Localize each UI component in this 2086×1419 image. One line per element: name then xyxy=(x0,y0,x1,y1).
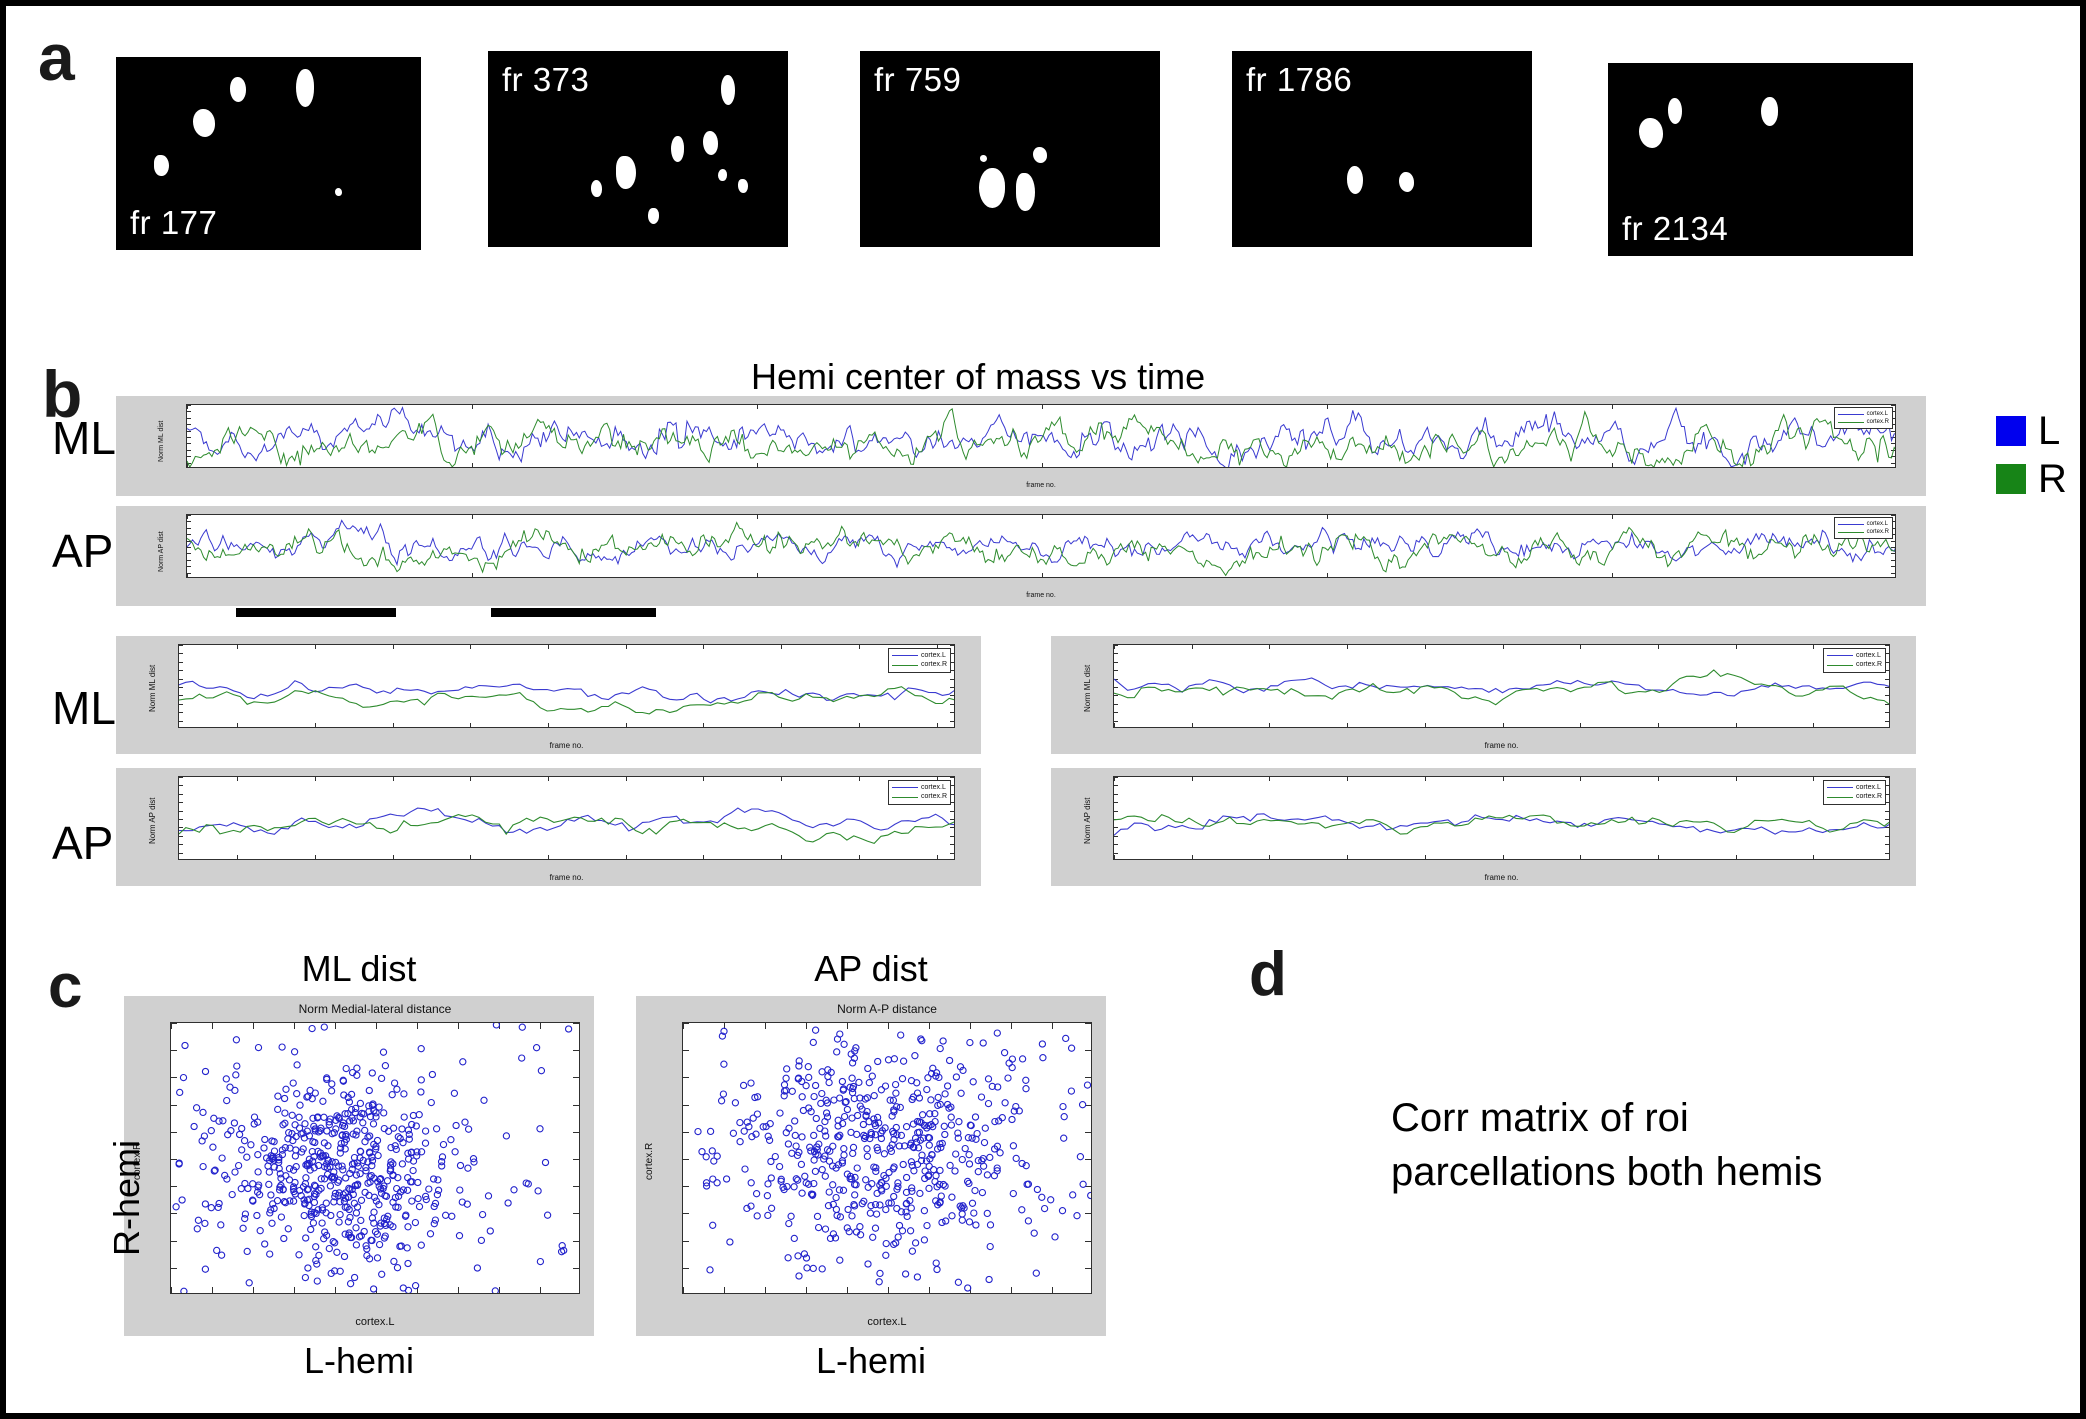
scatter-point xyxy=(699,1149,705,1155)
scatter-point xyxy=(307,1087,313,1093)
scatter-point xyxy=(839,1078,845,1084)
scatter-point xyxy=(967,1040,973,1046)
scatter-point xyxy=(369,1070,375,1076)
scatter-point xyxy=(822,1173,828,1179)
scatter-point xyxy=(239,1125,245,1131)
scatter-point xyxy=(987,1244,993,1250)
scatter-point xyxy=(946,1105,952,1111)
scatter-point xyxy=(244,1154,250,1160)
scatter-point xyxy=(865,1184,871,1190)
scatter-point xyxy=(292,1049,298,1055)
scatter-ap-dist-figure: Norm A-P distance00.10.20.30.40.50.60.70… xyxy=(636,996,1106,1336)
scatter-point xyxy=(833,1195,839,1201)
scatter-point xyxy=(293,1147,299,1153)
scatter-point xyxy=(1048,1197,1054,1203)
scatter-point xyxy=(296,1114,302,1120)
legend-line-swatch xyxy=(892,797,918,798)
scatter-point xyxy=(741,1082,747,1088)
scatter-point xyxy=(956,1119,962,1125)
scatter-point xyxy=(216,1118,222,1124)
scatter-point xyxy=(394,1265,400,1271)
scatter-point xyxy=(947,1057,953,1063)
scatter-point xyxy=(418,1077,424,1083)
scatter-point xyxy=(822,1226,828,1232)
roi-blob xyxy=(1033,147,1047,163)
scatter-point xyxy=(947,1162,953,1168)
panel-c-letter: c xyxy=(48,956,82,1018)
scatter-point xyxy=(269,1220,275,1226)
scatter-point xyxy=(969,1200,975,1206)
scatter-point xyxy=(981,1163,987,1169)
legend-entry: cortex.R xyxy=(1827,792,1882,801)
scatter-point xyxy=(333,1126,339,1132)
legend-label: cortex.L xyxy=(921,651,946,660)
scatter-point xyxy=(871,1093,877,1099)
scatter-point xyxy=(803,1083,809,1089)
scatter-point xyxy=(844,1225,850,1231)
frame-label: fr 373 xyxy=(502,61,589,99)
scatter-point xyxy=(881,1151,887,1157)
scatter-point xyxy=(834,1049,840,1055)
hemi-legend-label: R xyxy=(2038,459,2067,499)
scatter-point xyxy=(457,1162,463,1168)
scatter-point xyxy=(413,1283,419,1289)
scatter-point xyxy=(819,1091,825,1097)
scatter-point xyxy=(242,1138,248,1144)
scatter-point xyxy=(1025,1218,1031,1224)
scatter-point xyxy=(279,1044,285,1050)
scatter-point xyxy=(434,1126,440,1132)
scatter-point xyxy=(893,1090,899,1096)
scatter-point xyxy=(826,1189,832,1195)
scatter-point xyxy=(789,1150,795,1156)
plot-overview-ml-axes: 00.10.20.30.40.50.60.70.80.9102004006008… xyxy=(186,404,1896,468)
scatter-point xyxy=(908,1228,914,1234)
x-axis-label: frame no. xyxy=(186,592,1896,599)
scatter-point xyxy=(432,1217,438,1223)
scatter-point xyxy=(883,1207,889,1213)
scatter-point xyxy=(202,1068,208,1074)
scatter-point xyxy=(365,1134,371,1140)
scatter-point xyxy=(1033,1270,1039,1276)
plot-overview-ml: 00.10.20.30.40.50.60.70.80.9102004006008… xyxy=(116,396,1926,496)
scatter-point xyxy=(945,1083,951,1089)
scatter-point xyxy=(903,1271,909,1277)
scatter-point xyxy=(854,1165,860,1171)
scatter-point xyxy=(768,1175,774,1181)
scatter-point xyxy=(795,1177,801,1183)
scatter-point xyxy=(1009,1056,1015,1062)
scatter-point xyxy=(1013,1155,1019,1161)
scatter-point xyxy=(309,1026,315,1032)
scatter-point xyxy=(286,1166,292,1172)
scatter-point xyxy=(320,1098,326,1104)
scatter-ap-dist-axes-title: Norm A-P distance xyxy=(682,1002,1092,1016)
scatter-point xyxy=(275,1093,281,1099)
scatter-point xyxy=(374,1255,380,1261)
scatter-point xyxy=(841,1041,847,1047)
scatter-point xyxy=(924,1087,930,1093)
scatter-point xyxy=(798,1161,804,1167)
scatter-point xyxy=(885,1057,891,1063)
scatter-point xyxy=(208,1128,214,1134)
scatter-point xyxy=(326,1246,332,1252)
scatter-point xyxy=(380,1049,386,1055)
scatter-ml-dist-axes-title: Norm Medial-lateral distance xyxy=(170,1002,580,1016)
scatter-point xyxy=(466,1126,472,1132)
scatter-point xyxy=(908,1078,914,1084)
scatter-point xyxy=(813,1115,819,1121)
scatter-point xyxy=(1009,1065,1015,1071)
scatter-point xyxy=(1061,1135,1067,1141)
scatter-point xyxy=(538,1068,544,1074)
scatter-point xyxy=(837,1257,843,1263)
scatter-point xyxy=(542,1159,548,1165)
scatter-point xyxy=(389,1092,395,1098)
scatter-point xyxy=(865,1065,871,1071)
scatter-point xyxy=(883,1252,889,1258)
series-canvas xyxy=(179,645,955,728)
scatter-point xyxy=(784,1066,790,1072)
scatter-point xyxy=(904,1213,910,1219)
scatter-point xyxy=(415,1179,421,1185)
scatter-point xyxy=(819,1167,825,1173)
scatter-point xyxy=(984,1210,990,1216)
scatter-point xyxy=(941,1123,947,1129)
scatter-point xyxy=(218,1222,224,1228)
scatter-point xyxy=(242,1211,248,1217)
scatter-point xyxy=(262,1136,268,1142)
scatter-point xyxy=(392,1080,398,1086)
scatter-point xyxy=(849,1115,855,1121)
scatter-point xyxy=(423,1128,429,1134)
scatter-point xyxy=(814,1213,820,1219)
scatter-point xyxy=(921,1208,927,1214)
scatter-point xyxy=(849,1213,855,1219)
scatter-point xyxy=(897,1104,903,1110)
y-axis-label: Norm ML dist xyxy=(1083,665,1092,712)
legend-line-swatch xyxy=(892,665,918,666)
scatter-point xyxy=(194,1105,200,1111)
scatter-point xyxy=(865,1261,871,1267)
scatter-ap-dist-title: AP dist xyxy=(636,948,1106,990)
frame-tile-fr-2134: fr 2134 xyxy=(1608,63,1913,256)
scatter-point xyxy=(965,1285,971,1291)
scatter-point xyxy=(866,1080,872,1086)
scatter-ml-dist-figure: Norm Medial-lateral distance00.10.20.30.… xyxy=(124,996,594,1336)
scatter-point xyxy=(982,1125,988,1131)
scatter-point xyxy=(783,1075,789,1081)
scatter-point xyxy=(337,1212,343,1218)
zoom-region-marker-2 xyxy=(491,608,656,617)
scatter-point xyxy=(1023,1086,1029,1092)
scatter-point xyxy=(223,1076,229,1082)
plot-zoom-ml-right: 00.10.20.30.40.50.60.70.80.9125026027028… xyxy=(1051,636,1916,754)
roi-blob xyxy=(738,179,748,193)
scatter-point xyxy=(227,1084,233,1090)
scatter-point xyxy=(942,1091,948,1097)
row-label-ml-zoom: ML xyxy=(52,681,116,735)
scatter-point xyxy=(791,1184,797,1190)
scatter-point xyxy=(710,1222,716,1228)
scatter-point xyxy=(893,1124,899,1130)
scatter-point xyxy=(966,1161,972,1167)
scatter-point xyxy=(460,1059,466,1065)
scatter-point xyxy=(492,1288,498,1294)
scatter-point xyxy=(257,1228,263,1234)
scatter-point xyxy=(844,1106,850,1112)
scatter-point xyxy=(867,1210,873,1216)
scatter-point xyxy=(545,1212,551,1218)
scatter-point xyxy=(1068,1088,1074,1094)
scatter-point xyxy=(200,1109,206,1115)
scatter-point xyxy=(878,1087,884,1093)
scatter-point xyxy=(900,1161,906,1167)
roi-blob xyxy=(154,155,169,176)
scatter-point xyxy=(1020,1056,1026,1062)
scatter-point xyxy=(777,1164,783,1170)
scatter-point xyxy=(1006,1060,1012,1066)
scatter-point xyxy=(377,1242,383,1248)
scatter-point xyxy=(281,1235,287,1241)
scatter-point xyxy=(869,1073,875,1079)
scatter-point xyxy=(401,1091,407,1097)
scatter-point xyxy=(804,1265,810,1271)
scatter-point xyxy=(503,1133,509,1139)
scatter-point xyxy=(1074,1213,1080,1219)
plot-zoom-ml-left-axes: 00.10.20.30.40.50.60.70.80.9120304050607… xyxy=(178,644,955,728)
scatter-point xyxy=(268,1192,274,1198)
scatter-point xyxy=(451,1090,457,1096)
scatter-point xyxy=(1060,1104,1066,1110)
scatter-point xyxy=(1070,1192,1076,1198)
scatter-point xyxy=(219,1155,225,1161)
scatter-point xyxy=(353,1172,359,1178)
scatter-point xyxy=(772,1154,778,1160)
frame-label: fr 177 xyxy=(130,204,217,242)
scatter-point xyxy=(341,1253,347,1259)
scatter-point xyxy=(932,1179,938,1185)
scatter-point xyxy=(979,1190,985,1196)
plot-legend: cortex.Lcortex.R xyxy=(1834,517,1893,539)
scatter-point xyxy=(732,1100,738,1106)
scatter-point xyxy=(864,1153,870,1159)
scatter-point xyxy=(297,1102,303,1108)
legend-entry: cortex.L xyxy=(1838,520,1889,528)
scatter-point xyxy=(248,1142,254,1148)
panel-b-legend: LR xyxy=(1996,411,2067,507)
scatter-point xyxy=(242,1180,248,1186)
scatter-point xyxy=(921,1237,927,1243)
scatter-point xyxy=(481,1097,487,1103)
scatter-point xyxy=(415,1196,421,1202)
scatter-point xyxy=(826,1158,832,1164)
series-canvas xyxy=(1114,777,1890,860)
scatter-point xyxy=(330,1239,336,1245)
scatter-point xyxy=(282,1110,288,1116)
x-axis-label: frame no. xyxy=(1113,873,1890,882)
roi-blob xyxy=(648,208,659,224)
scatter-point xyxy=(940,1038,946,1044)
scatter-point xyxy=(856,1079,862,1085)
scatter-point xyxy=(394,1086,400,1092)
legend-entry: cortex.R xyxy=(1838,528,1889,536)
scatter-point xyxy=(233,1072,239,1078)
scatter-point xyxy=(375,1153,381,1159)
scatter-point xyxy=(426,1186,432,1192)
scatter-point xyxy=(319,1220,325,1226)
scatter-point xyxy=(769,1205,775,1211)
scatter-point xyxy=(796,1273,802,1279)
scatter-point xyxy=(1088,1192,1092,1198)
roi-blob xyxy=(193,109,215,137)
scatter-point xyxy=(412,1220,418,1226)
scatter-point xyxy=(845,1206,851,1212)
scatter-point xyxy=(949,1213,955,1219)
scatter-point xyxy=(973,1136,979,1142)
scatter-point xyxy=(305,1265,311,1271)
scatter-point xyxy=(478,1237,484,1243)
legend-label: cortex.R xyxy=(1856,660,1882,669)
scatter-point xyxy=(405,1260,411,1266)
scatter-point xyxy=(841,1146,847,1152)
scatter-point xyxy=(250,1181,256,1187)
scatter-ap-dist-xlabel: L-hemi xyxy=(636,1340,1106,1382)
scatter-point xyxy=(280,1122,286,1128)
scatter-point xyxy=(224,1098,230,1104)
hemi-legend-item-r: R xyxy=(1996,459,2067,499)
scatter-point xyxy=(714,1153,720,1159)
scatter-point xyxy=(877,1270,883,1276)
scatter-point xyxy=(267,1251,273,1257)
roi-blob xyxy=(1347,166,1363,194)
scatter-point xyxy=(1002,1100,1008,1106)
scatter-point xyxy=(487,1228,493,1234)
scatter-point xyxy=(535,1188,541,1194)
scatter-point xyxy=(429,1071,435,1077)
legend-line-swatch xyxy=(1838,524,1864,525)
scatter-point xyxy=(893,1240,899,1246)
scatter-point xyxy=(788,1213,794,1219)
x-axis-label: frame no. xyxy=(186,482,1896,489)
scatter-point xyxy=(985,1101,991,1107)
scatter-point xyxy=(719,1098,725,1104)
scatter-point xyxy=(353,1225,359,1231)
scatter-point xyxy=(462,1119,468,1125)
scatter-point xyxy=(812,1168,818,1174)
scatter-point xyxy=(935,1094,941,1100)
scatter-point xyxy=(875,1058,881,1064)
scatter-point xyxy=(348,1281,354,1287)
scatter-point xyxy=(302,1275,308,1281)
scatter-point xyxy=(904,1124,910,1130)
scatter-point xyxy=(255,1169,261,1175)
scatter-point xyxy=(431,1176,437,1182)
x-axis-label: frame no. xyxy=(178,741,955,750)
legend-entry: cortex.L xyxy=(1838,410,1889,418)
scatter-point xyxy=(850,1150,856,1156)
y-axis-label: Norm ML dist xyxy=(158,421,165,462)
scatter-ap-dist-axes: 00.10.20.30.40.50.60.70.80.9100.10.20.30… xyxy=(682,1022,1092,1294)
scatter-point xyxy=(1061,1114,1067,1120)
legend-line-swatch xyxy=(892,655,918,656)
scatter-point xyxy=(239,1147,245,1153)
legend-label: cortex.L xyxy=(1856,783,1881,792)
scatter-point xyxy=(1005,1075,1011,1081)
roi-blob xyxy=(591,180,602,197)
scatter-point xyxy=(399,1161,405,1167)
scatter-point xyxy=(926,1185,932,1191)
scatter-point xyxy=(924,1223,930,1229)
scatter-point xyxy=(891,1056,897,1062)
scatter-point xyxy=(294,1091,300,1097)
scatter-point xyxy=(410,1112,416,1118)
scatter-point xyxy=(474,1265,480,1271)
plot-zoom-ap-right: 00.10.20.30.40.50.60.70.80.9125026027028… xyxy=(1051,768,1916,886)
scatter-point xyxy=(314,1278,320,1284)
legend-label: cortex.L xyxy=(1867,520,1888,528)
roi-blob xyxy=(616,156,636,189)
scatter-point xyxy=(453,1122,459,1128)
scatter-point xyxy=(379,1075,385,1081)
series-line-cortex-L xyxy=(1114,678,1890,696)
scatter-point xyxy=(1077,1154,1083,1160)
scatter-point xyxy=(362,1127,368,1133)
scatter-point xyxy=(202,1201,208,1207)
scatter-point xyxy=(754,1191,760,1197)
scatter-ml-dist-points xyxy=(171,1023,580,1294)
frame-label: fr 2134 xyxy=(1622,210,1728,248)
scatter-point xyxy=(811,1094,817,1100)
frame-tile-fr-177: fr 177 xyxy=(116,57,421,250)
series-line-cortex-R xyxy=(1114,815,1890,835)
scatter-point xyxy=(785,1255,791,1261)
scatter-point xyxy=(303,1175,309,1181)
scatter-point xyxy=(456,1233,462,1239)
scatter-point xyxy=(395,1134,401,1140)
scatter-point xyxy=(813,1027,819,1033)
scatter-point xyxy=(285,1226,291,1232)
scatter-point xyxy=(949,1194,955,1200)
panel-a-frames: fr 177fr 373fr 759fr 1786fr 2134 xyxy=(116,51,2036,261)
scatter-point xyxy=(1080,1102,1086,1108)
scatter-point xyxy=(537,1126,543,1132)
scatter-point xyxy=(1031,1230,1037,1236)
scatter-point xyxy=(566,1026,572,1032)
legend-line-swatch xyxy=(1838,422,1864,423)
scatter-point xyxy=(978,1094,984,1100)
frame-tile-fr-759: fr 759 xyxy=(860,51,1160,247)
scatter-point xyxy=(811,1132,817,1138)
scatter-point xyxy=(232,1169,238,1175)
scatter-point xyxy=(785,1141,791,1147)
scatter-point xyxy=(825,1073,831,1079)
scatter-point xyxy=(934,1266,940,1272)
plot-overview-ap-axes: 00.10.20.30.40.50.60.70.80.9102004006008… xyxy=(186,514,1896,578)
scatter-point xyxy=(266,1181,272,1187)
scatter-point xyxy=(1034,1186,1040,1192)
legend-entry: cortex.R xyxy=(892,660,947,669)
legend-label: cortex.L xyxy=(1856,651,1881,660)
scatter-point xyxy=(730,1130,736,1136)
series-line-cortex-R xyxy=(179,687,955,714)
scatter-point xyxy=(343,1066,349,1072)
scatter-point xyxy=(799,1094,805,1100)
series-line-cortex-R xyxy=(187,523,1896,576)
scatter-point xyxy=(959,1157,965,1163)
scatter-point xyxy=(480,1212,486,1218)
scatter-point xyxy=(837,1095,843,1101)
